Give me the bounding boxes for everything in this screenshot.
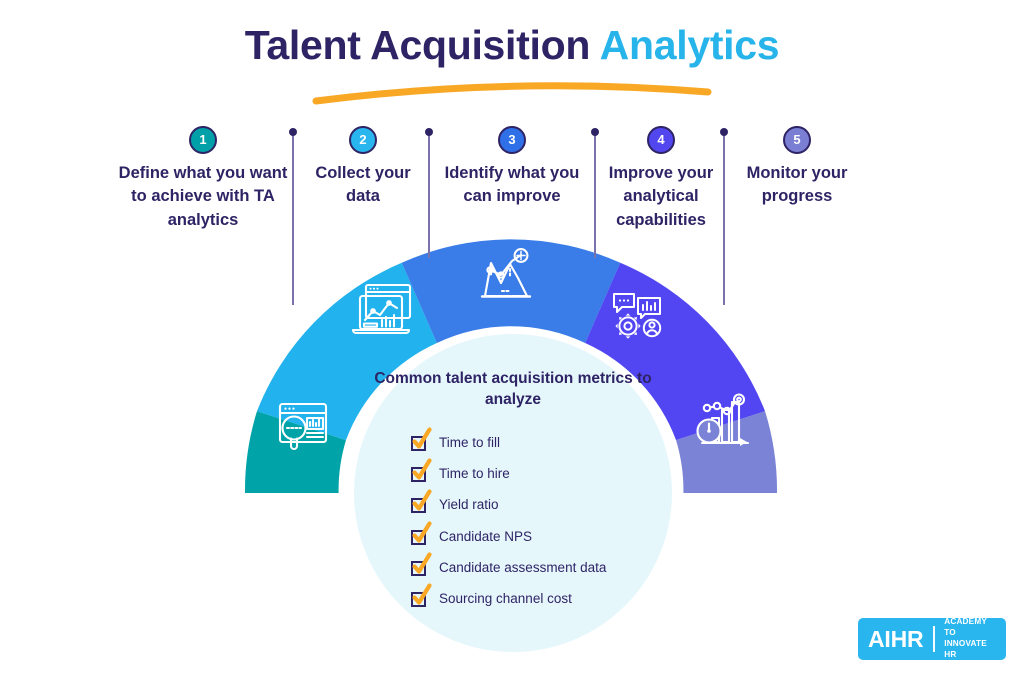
checkbox-checked-icon[interactable] <box>411 496 429 514</box>
metrics-heading: Common talent acquisition metrics to ana… <box>368 368 658 411</box>
step-label-3: Identify what you can improve <box>434 162 590 209</box>
step-badge-4: 4 <box>647 126 675 154</box>
divider-dot-icon <box>425 128 433 136</box>
checkbox-checked-icon[interactable] <box>411 528 429 546</box>
step-4[interactable]: 4 Improve your analytical capabilities <box>598 126 724 232</box>
list-item[interactable]: Candidate NPS <box>411 521 671 552</box>
step-3[interactable]: 3 Identify what you can improve <box>434 126 590 209</box>
step-label-4: Improve your analytical capabilities <box>598 162 724 232</box>
step-badge-5: 5 <box>783 126 811 154</box>
aihr-tagline: ACADEMY TO INNOVATE HR <box>944 617 996 660</box>
step-badge-2: 2 <box>349 126 377 154</box>
step-divider-2 <box>428 133 430 258</box>
list-item[interactable]: Sourcing channel cost <box>411 583 671 614</box>
metric-label: Time to fill <box>439 436 500 450</box>
list-item[interactable]: Time to fill <box>411 427 671 458</box>
step-5[interactable]: 5 Monitor your progress <box>730 126 864 209</box>
checkbox-checked-icon[interactable] <box>411 590 429 608</box>
checkbox-checked-icon[interactable] <box>411 434 429 452</box>
step-badge-3: 3 <box>498 126 526 154</box>
step-label-5: Monitor your progress <box>730 162 864 209</box>
metric-label: Yield ratio <box>439 498 499 512</box>
step-2[interactable]: 2 Collect your data <box>300 126 426 209</box>
list-item[interactable]: Yield ratio <box>411 490 671 521</box>
step-label-1: Define what you want to achieve with TA … <box>110 162 296 232</box>
step-divider-3 <box>594 133 596 258</box>
metric-label: Candidate assessment data <box>439 561 606 575</box>
list-item[interactable]: Time to hire <box>411 458 671 489</box>
list-item[interactable]: Candidate assessment data <box>411 552 671 583</box>
metric-label: Sourcing channel cost <box>439 592 572 606</box>
checkbox-checked-icon[interactable] <box>411 465 429 483</box>
step-1[interactable]: 1 Define what you want to achieve with T… <box>110 126 296 232</box>
metric-label: Time to hire <box>439 467 510 481</box>
aihr-wordmark: AIHR <box>868 628 923 651</box>
logo-divider <box>933 626 935 652</box>
step-badge-1: 1 <box>189 126 217 154</box>
aihr-logo[interactable]: AIHR ACADEMY TO INNOVATE HR <box>858 618 1006 660</box>
step-label-2: Collect your data <box>300 162 426 209</box>
aihr-tagline-line1: ACADEMY TO <box>944 617 987 637</box>
checkbox-checked-icon[interactable] <box>411 559 429 577</box>
aihr-tagline-line2: INNOVATE HR <box>944 639 987 659</box>
metric-label: Candidate NPS <box>439 530 532 544</box>
metrics-list: Time to fill Time to hire Yield ratio Ca… <box>411 427 671 615</box>
